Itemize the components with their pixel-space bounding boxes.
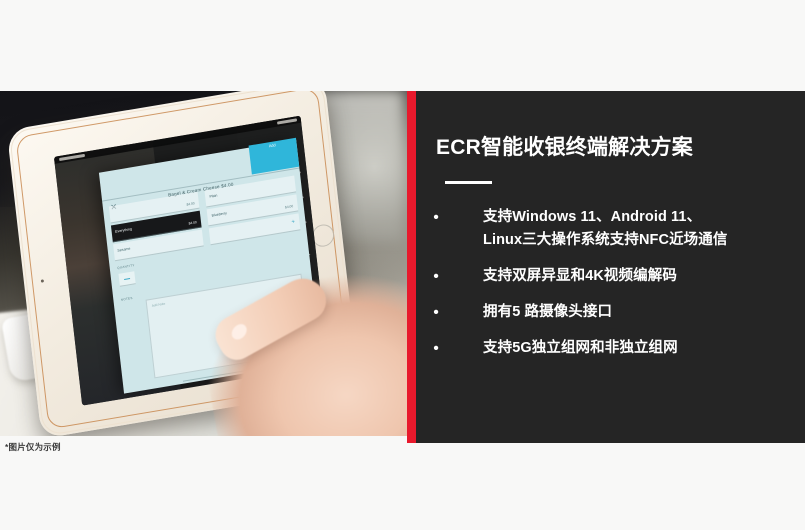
list-item: • 支持5G独立组网和非独立组网 [430, 337, 805, 360]
content-panel: ECR智能收银终端解决方案 • 支持Windows 11、Android 11、… [416, 91, 805, 443]
pos-option-label: Everything [115, 227, 132, 234]
bullet-text: 支持5G独立组网和非独立组网 [483, 337, 678, 360]
photo-index-finger [209, 270, 334, 366]
bullet-line-2: Linux三大操作系统支持NFC近场通信 [483, 229, 727, 252]
pos-quantity-label: QUANTITY [117, 263, 135, 270]
tablet-camera-dot [41, 279, 45, 283]
panel-title: ECR智能收银终端解决方案 [436, 131, 693, 161]
bullet-dot-icon: • [430, 301, 442, 324]
photo-fingernail [229, 321, 250, 342]
bullet-text: 支持双屏异显和4K视频编解码 [483, 265, 677, 288]
bullet-dot-icon: • [430, 265, 442, 288]
pos-option-label: Plain [209, 194, 217, 199]
accent-divider-bar [407, 91, 416, 443]
list-item: • 拥有5 路摄像头接口 [430, 301, 805, 324]
pos-option-price: $4.00 [188, 220, 197, 225]
bullet-text: 拥有5 路摄像头接口 [483, 301, 612, 324]
image-disclaimer-caption: *图片仅为示例 [5, 441, 61, 453]
bullet-line-1: 支持Windows 11、Android 11、 [483, 209, 701, 225]
pos-option-label: Sesame [117, 247, 130, 253]
bullet-text: 支持Windows 11、Android 11、 Linux三大操作系统支持NF… [483, 206, 727, 252]
pos-option-price: $4.00 [285, 204, 294, 209]
bullet-dot-icon: • [430, 206, 442, 229]
pos-option-price: $4.00 [186, 201, 195, 206]
bullet-dot-icon: • [430, 337, 442, 360]
feature-bullet-list: • 支持Windows 11、Android 11、 Linux三大操作系统支持… [430, 206, 805, 373]
product-photo: ✕ Bagel & Cream Cheese $4.00 Add $4.00 P… [0, 91, 407, 436]
plus-icon[interactable]: + [291, 219, 295, 226]
slide-canvas: ✕ Bagel & Cream Cheese $4.00 Add $4.00 P… [0, 0, 805, 530]
pos-option-label: Blueberry [211, 211, 227, 218]
pos-quantity-decrement[interactable] [118, 271, 135, 287]
title-underline-rule [445, 181, 492, 184]
pos-notes-label: NOTES [121, 296, 133, 302]
list-item: • 支持Windows 11、Android 11、 Linux三大操作系统支持… [430, 206, 805, 252]
list-item: • 支持双屏异显和4K视频编解码 [430, 265, 805, 288]
